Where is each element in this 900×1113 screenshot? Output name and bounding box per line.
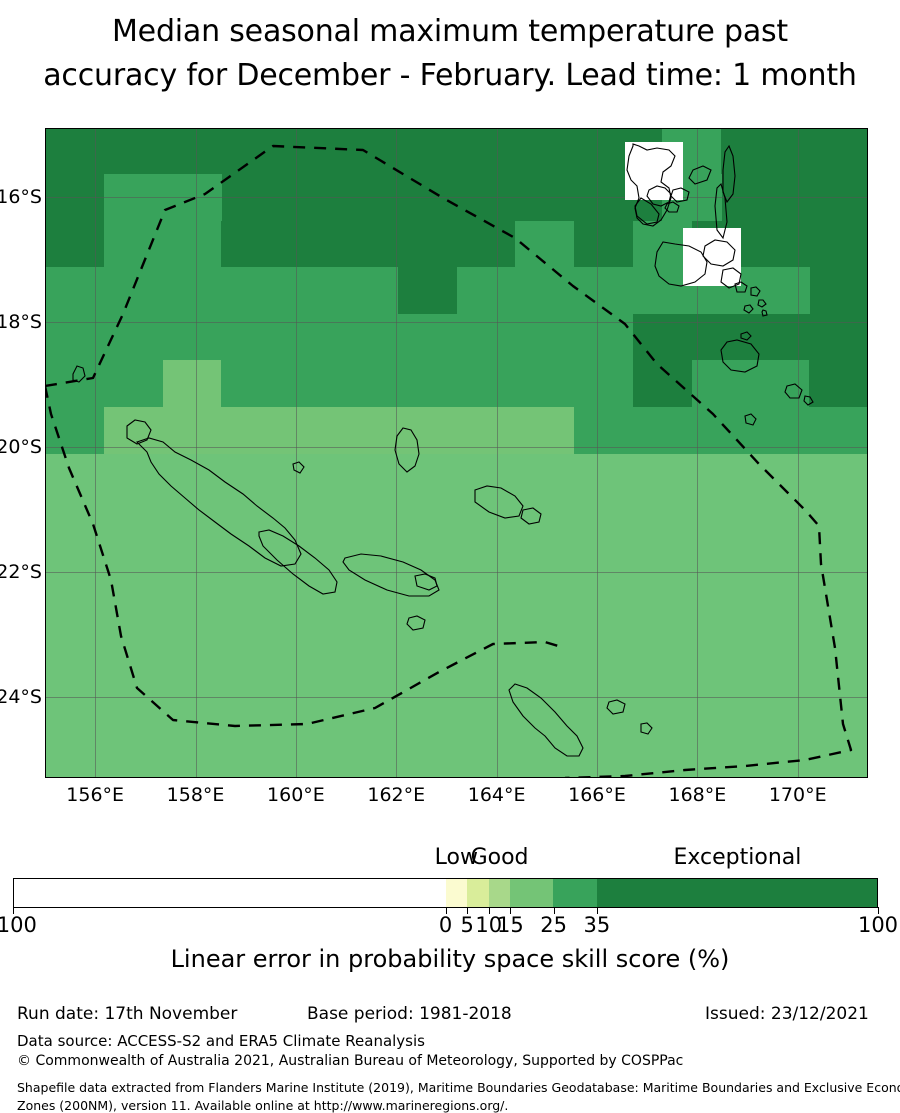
colorbar-tick-label: 100 [858,913,898,937]
title-line-2: accuracy for December - February. Lead t… [0,58,900,93]
copyright: © Commonwealth of Australia 2021, Austra… [17,1053,683,1069]
colorbar-segment [446,879,468,907]
colorbar-segment [510,879,553,907]
x-tick-label: 170°E [769,784,827,806]
colorbar-segment [489,879,511,907]
shapefile-credit-line-1: Shapefile data extracted from Flanders M… [17,1080,900,1095]
issued-date: Issued: 23/12/2021 [705,1004,869,1024]
colorbar-quality-label: Good [471,845,529,870]
y-tick-label: 22°S [0,561,42,583]
colorbar-segment [553,879,596,907]
x-tick-label: 164°E [468,784,526,806]
shapefile-credit-line-2: Zones (200NM), version 11. Available onl… [17,1098,508,1113]
run-date: Run date: 17th November [17,1004,237,1024]
x-tick-label: 166°E [568,784,626,806]
colorbar-segment [597,879,877,907]
colorbar-tick-label: 35 [584,913,611,937]
colorbar-axis-label: Linear error in probability space skill … [0,945,900,973]
colorbar-tick-label: 0 [439,913,452,937]
footer: Run date: 17th November Base period: 198… [0,1000,900,1110]
data-source: Data source: ACCESS-S2 and ERA5 Climate … [17,1032,425,1050]
colorbar-tick-label: 15 [497,913,524,937]
map-vector-overlay [45,128,868,778]
colorbar-tick-label: 5 [460,913,473,937]
title-line-1: Median seasonal maximum temperature past [0,14,900,49]
colorbar[interactable]: LowGoodExceptional -1000510152535100 [0,845,900,950]
y-tick-label: 24°S [0,686,42,708]
y-tick-label: 18°S [0,311,42,333]
footer-meta-row: Run date: 17th November Base period: 198… [0,1004,900,1030]
colorbar-tick-label: -100 [0,913,37,937]
y-tick-label: 20°S [0,436,42,458]
x-tick-label: 162°E [367,784,425,806]
x-tick-label: 160°E [267,784,325,806]
colorbar-gradient [13,878,878,908]
base-period: Base period: 1981-2018 [307,1004,512,1024]
map-panel[interactable] [45,128,868,778]
chart-title: Median seasonal maximum temperature past… [0,10,900,102]
x-tick-label: 156°E [66,784,124,806]
x-tick-label: 158°E [167,784,225,806]
colorbar-segment [467,879,489,907]
colorbar-segment [14,879,446,907]
y-tick-label: 16°S [0,186,42,208]
colorbar-tick-label: 25 [540,913,567,937]
x-tick-label: 168°E [668,784,726,806]
colorbar-quality-label: Exceptional [674,845,802,870]
